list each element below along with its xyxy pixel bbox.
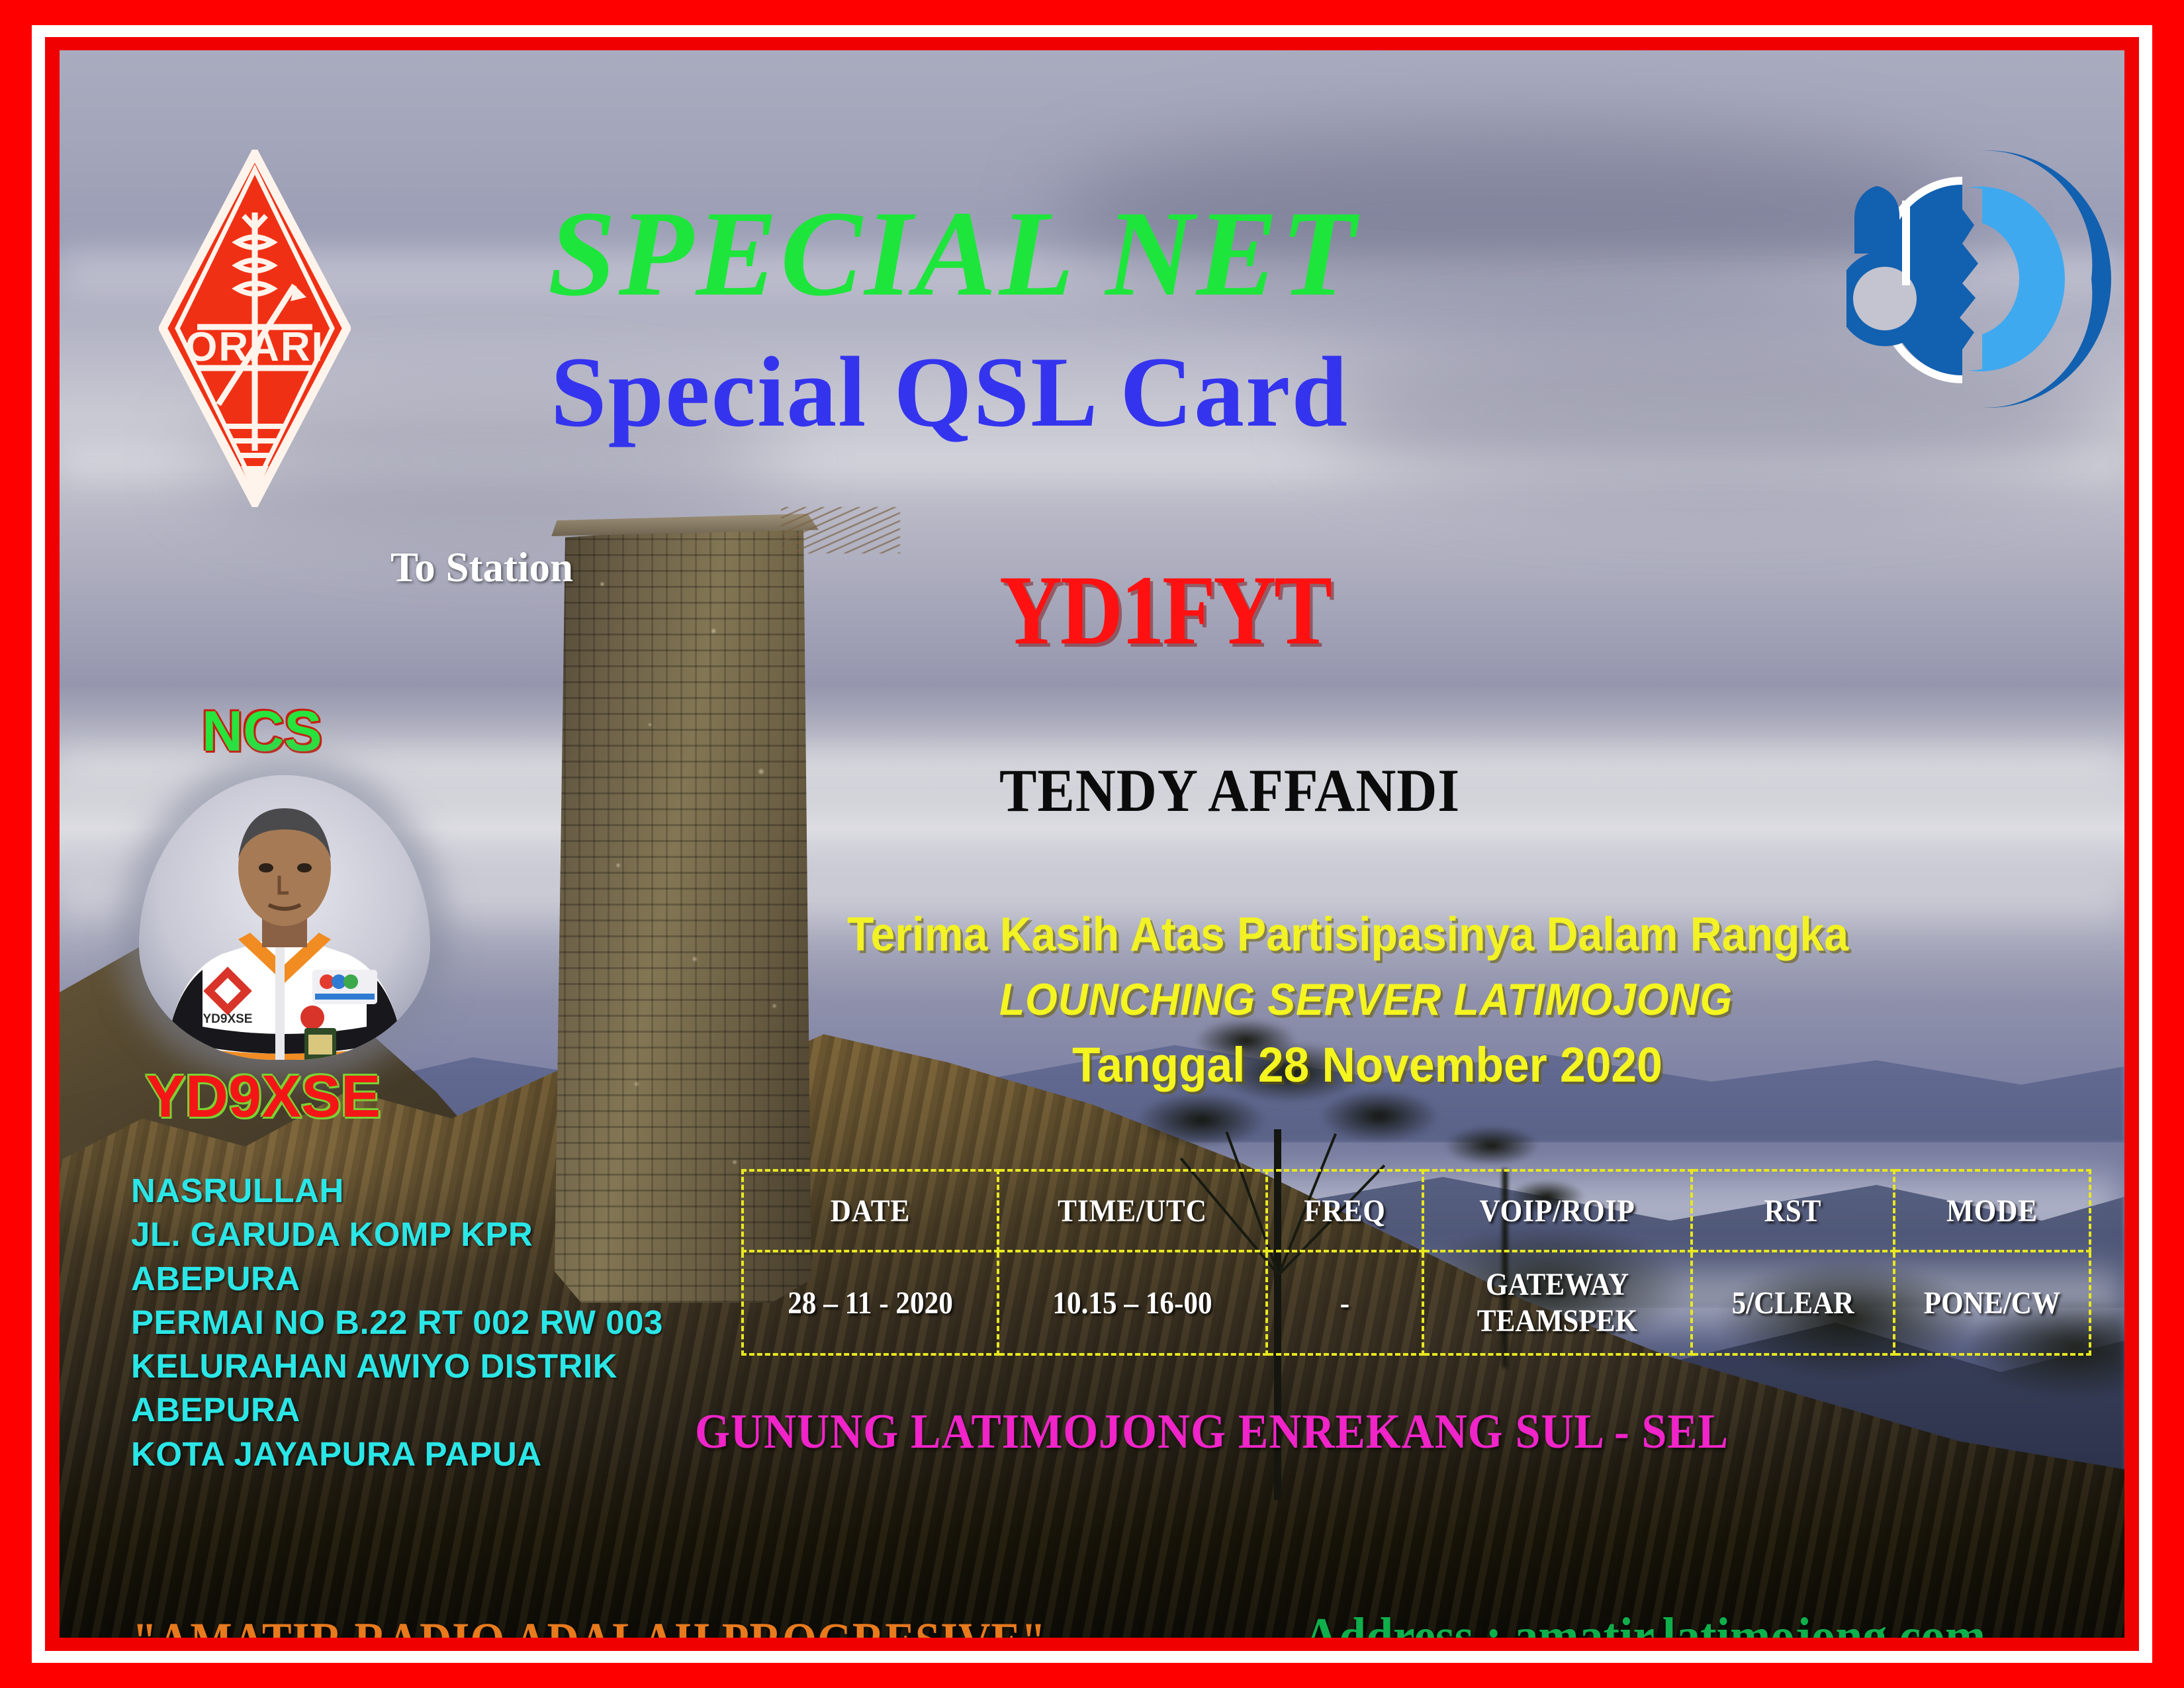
column-header-mode: MODE — [1904, 1170, 2080, 1251]
mailing-address: NASRULLAH JL. GARUDA KOMP KPR ABEPURA PE… — [131, 1169, 663, 1476]
page-title: SPECIAL NET — [60, 193, 2124, 315]
qso-table: DATE TIME/UTC FREQ VOIP/ROIP RST MODE 28… — [741, 1169, 2091, 1356]
cell-voip-roip: GATEWAY TEAMSPEK — [1436, 1251, 1678, 1354]
cell-voip-roip-line2: TEAMSPEK — [1438, 1303, 1676, 1339]
card-photo-area: ORARI — [60, 50, 2124, 1638]
address-line: PERMAI NO B.22 RT 002 RW 003 — [131, 1301, 663, 1344]
address-line: KELURAHAN AWIYO DISTRIK — [131, 1344, 663, 1388]
card-border-white: ORARI — [32, 25, 2152, 1663]
cell-freq: - — [1275, 1251, 1415, 1354]
event-thanks-line: Terima Kasih Atas Partisipasinya Dalam R… — [847, 908, 1848, 962]
address-line: ABEPURA — [131, 1388, 663, 1432]
address-line: ABEPURA — [131, 1257, 663, 1301]
page-subtitle: Special QSL Card — [60, 342, 2124, 442]
table-row: 28 – 11 - 2020 10.15 – 16-00 - GATEWAY T… — [743, 1251, 2090, 1354]
address-line: NASRULLAH — [131, 1169, 663, 1213]
cell-rst: 5/CLEAR — [1702, 1251, 1884, 1354]
event-title-line: LOUNCHING SERVER LATIMOJONG — [999, 974, 1733, 1025]
footer-website: Address : amatir.latimojong.com — [1304, 1607, 1985, 1638]
column-header-voip-roip: VOIP/ROIP — [1436, 1170, 1678, 1251]
station-callsign: YD1FYT — [999, 553, 1330, 667]
tree-canopy — [1132, 997, 1449, 1196]
event-date-line: Tanggal 28 November 2020 — [1072, 1037, 1662, 1093]
column-header-time: TIME/UTC — [1011, 1170, 1253, 1251]
to-station-label: To Station — [390, 543, 573, 592]
qsl-card: ORARI — [0, 0, 2184, 1688]
cell-date: 28 – 11 - 2020 — [755, 1251, 985, 1354]
grass-wisp — [781, 507, 900, 553]
cell-mode: PONE/CW — [1904, 1251, 2080, 1354]
address-line: KOTA JAYAPURA PAPUA — [131, 1432, 663, 1476]
footer-motto: "AMATIR RADIO ADALAH PROGRESIVE" — [132, 1611, 1046, 1638]
svg-text:YD9XSE: YD9XSE — [203, 1012, 253, 1026]
address-line: JL. GARUDA KOMP KPR — [131, 1213, 663, 1256]
location-line: GUNUNG LATIMOJONG ENREKANG SUL - SEL — [695, 1404, 1729, 1460]
column-header-freq: FREQ — [1275, 1170, 1415, 1251]
ncs-label: NCS — [202, 699, 322, 765]
cell-time: 10.15 – 16-00 — [1011, 1251, 1253, 1354]
column-header-date: DATE — [755, 1170, 985, 1251]
ncs-callsign: YD9XSE — [146, 1063, 381, 1131]
card-border-red-inner: ORARI — [45, 37, 2139, 1651]
column-header-rst: RST — [1702, 1170, 1884, 1251]
cell-voip-roip-line1: GATEWAY — [1438, 1266, 1676, 1303]
table-header-row: DATE TIME/UTC FREQ VOIP/ROIP RST MODE — [743, 1170, 2090, 1251]
operator-name: TENDY AFFANDI — [999, 755, 1460, 825]
